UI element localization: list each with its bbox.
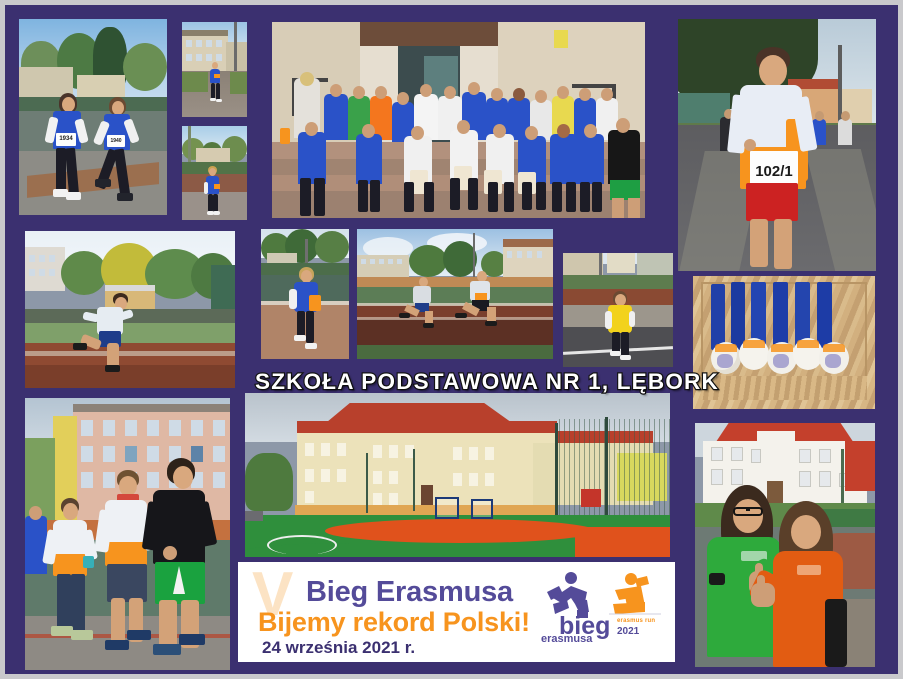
person-girl-orange <box>767 501 853 667</box>
runner-figure <box>405 277 445 319</box>
handball-goal <box>471 499 493 519</box>
photo-school-building-field <box>245 393 670 557</box>
photo-collage-slide: 1934 1940 <box>5 5 898 674</box>
runner-figure <box>289 267 323 353</box>
banner-date: 24 września 2021 r. <box>262 638 415 657</box>
photo-runner-on-path-uphill <box>182 22 247 117</box>
ball-stop-net <box>559 419 670 519</box>
runner-figure <box>77 293 151 365</box>
runner-figure <box>204 166 222 216</box>
banner-title: Bieg Erasmusa <box>306 576 513 608</box>
photo-medals-in-box <box>693 276 875 409</box>
fence-post <box>555 423 558 518</box>
runner-figure <box>208 62 222 104</box>
event-banner: V Bieg Erasmusa Bijemy rekord Polski! 24… <box>238 562 675 662</box>
photo-boy-running-sidewalk <box>182 126 247 220</box>
photo-girl-yellow-shirt <box>563 253 673 367</box>
fence-row <box>19 97 167 111</box>
logo-word-run: erasmus run <box>617 618 655 625</box>
field <box>19 111 167 151</box>
photo-two-runners-wide-track <box>357 229 553 359</box>
photo-girl-blue-shirt-running <box>261 229 349 359</box>
field-orange-zone <box>325 519 595 543</box>
baton <box>309 295 321 311</box>
photo-boy-runner-bib: 102/1 <box>678 19 876 271</box>
runner-figure <box>605 291 635 361</box>
medal-ribbon <box>731 282 745 350</box>
photo-boy-sprinting-track <box>25 231 235 388</box>
photo-two-girls-thumbs-up <box>695 423 875 667</box>
medal-ribbon <box>711 284 725 350</box>
shorts <box>746 183 798 221</box>
tree <box>123 43 167 91</box>
runner-figure <box>143 458 223 656</box>
runner-figure <box>463 271 509 319</box>
shorts <box>107 564 147 602</box>
sleeve <box>825 599 847 667</box>
runner-figure: 1940 <box>97 97 141 213</box>
wristwatch <box>709 573 725 585</box>
photo-three-runners-green <box>25 398 230 670</box>
logo-word-erasmusa: erasmusa <box>541 634 592 645</box>
photo-group-photo-school-steps <box>272 22 645 218</box>
collage-title: SZKOŁA PODSTAWOWA NR 1, LĘBORK <box>255 369 665 395</box>
person-coach <box>608 130 640 184</box>
runner-figure: 1934 <box>45 93 91 211</box>
drink-bottle <box>280 128 290 144</box>
photo-two-girls-running-track: 1934 1940 <box>19 19 167 215</box>
bieg-erasmusa-logo: bieg erasmusa erasmus run 2021 <box>541 570 661 652</box>
banner-subtitle: Bijemy rekord Polski! <box>258 607 530 637</box>
runner-figure: 102/1 <box>730 47 830 269</box>
logo-word-year: 2021 <box>617 626 639 637</box>
handball-goal <box>435 497 459 519</box>
